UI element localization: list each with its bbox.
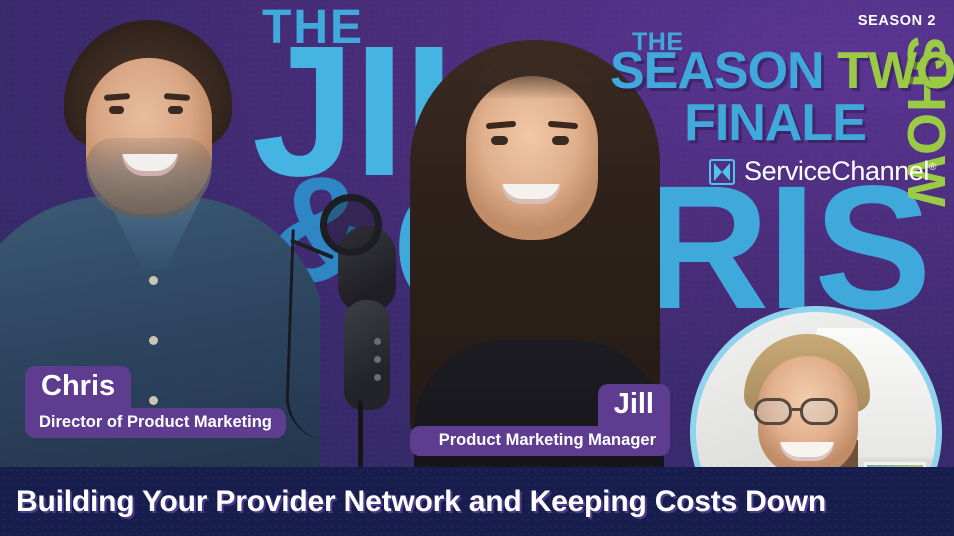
guest-eyeglasses-icon (754, 398, 792, 425)
microphone-body (344, 300, 390, 410)
guest-eyeglasses-icon (800, 398, 838, 425)
trademark-symbol: ® (929, 162, 936, 173)
servicechannel-mark-icon (709, 159, 735, 185)
jill-eye (491, 136, 508, 145)
microphone-control-dot (374, 356, 381, 363)
finale-headline-the: THE (632, 28, 684, 57)
pop-filter-icon (320, 194, 382, 256)
chris-shirt-button (149, 336, 158, 345)
microphone-control-dot (374, 338, 381, 345)
episode-title-bar: Building Your Provider Network and Keepi… (0, 467, 954, 536)
jill-eye (552, 136, 569, 145)
servicechannel-wordmark-text: ServiceChannel (744, 156, 929, 186)
microphone-control-dot (374, 374, 381, 381)
speaker-role-jill: Product Marketing Manager (410, 426, 670, 456)
finale-headline: THE SEASON TWO FINALE (610, 28, 940, 150)
microphone-icon (330, 200, 400, 470)
microphone-stand (358, 400, 363, 470)
finale-headline-line2: FINALE (610, 97, 940, 150)
speaker-role-chris: Director of Product Marketing (25, 408, 286, 438)
servicechannel-wordmark: ServiceChannel® (744, 156, 936, 187)
speaker-name-chris: Chris (25, 366, 131, 408)
speaker-name-jill: Jill (598, 384, 670, 426)
jill-face (466, 76, 598, 240)
speaker-badge-chris: Chris Director of Product Marketing (25, 366, 286, 438)
finale-headline-two: TWO (837, 42, 954, 100)
guest-eyeglasses-bridge (792, 408, 802, 411)
chris-eye (109, 106, 124, 114)
speaker-badge-jill: Jill Product Marketing Manager (410, 384, 670, 456)
chris-eye (168, 106, 183, 114)
chris-shirt-button (149, 276, 158, 285)
microphone-cable (284, 229, 335, 440)
episode-title: Building Your Provider Network and Keepi… (0, 467, 954, 536)
episode-thumbnail: THE JILL & CHRIS SHOW (0, 0, 954, 536)
servicechannel-logo: ServiceChannel® (709, 156, 936, 187)
jill-hair-part (472, 60, 594, 100)
season-tag: SEASON 2 (858, 13, 936, 29)
